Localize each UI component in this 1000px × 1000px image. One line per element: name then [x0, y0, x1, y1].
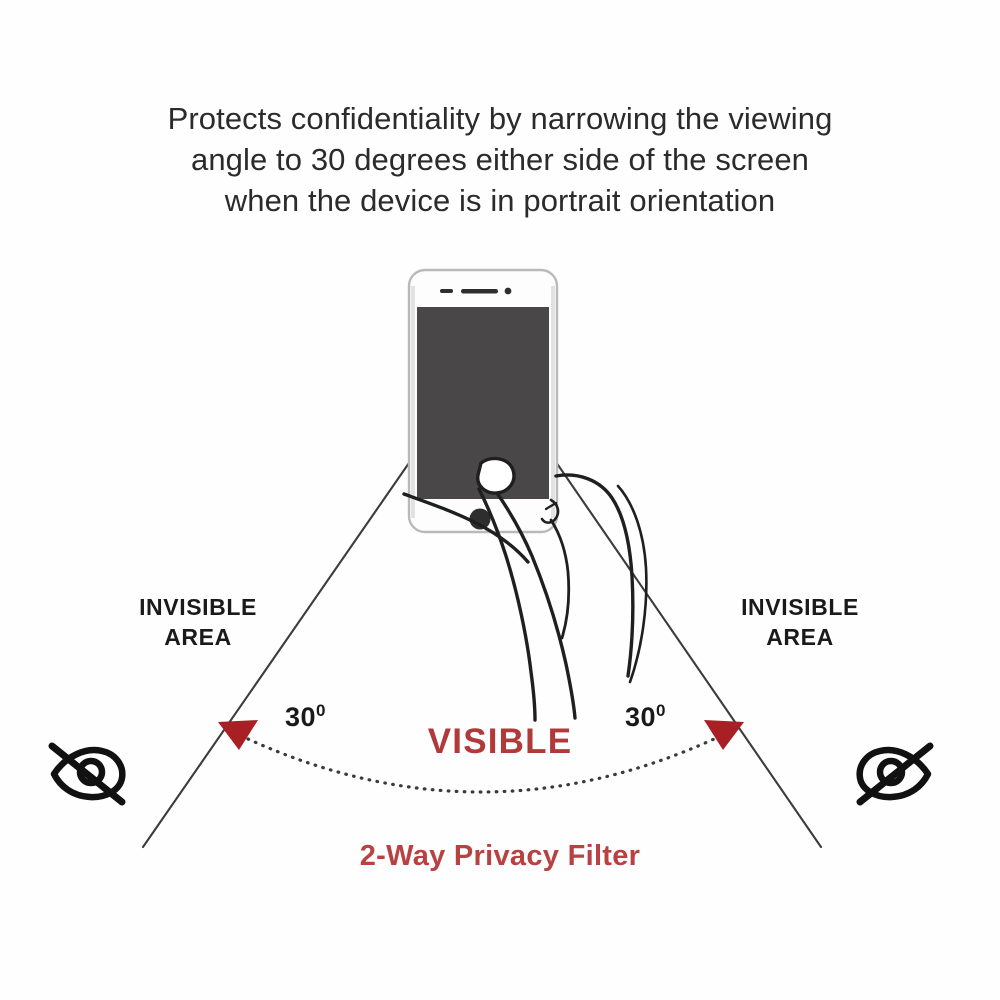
phone-edge-right [551, 286, 555, 518]
privacy-filter-diagram: Protects confidentiality by narrowing th… [0, 0, 1000, 1000]
invisible-area-label-right: INVISIBLE AREA [680, 592, 920, 652]
earpiece-speaker-icon [461, 289, 498, 294]
angle-left-degree-symbol: 0 [316, 701, 326, 720]
front-camera-icon [505, 288, 512, 295]
invisible-area-right-line1: INVISIBLE [680, 592, 920, 622]
angle-right-degree-symbol: 0 [656, 701, 666, 720]
smartphone-device [409, 270, 557, 532]
invisible-area-left-line1: INVISIBLE [78, 592, 318, 622]
headline: Protects confidentiality by narrowing th… [0, 98, 1000, 221]
headline-line-3: when the device is in portrait orientati… [0, 180, 1000, 221]
headline-line-2: angle to 30 degrees either side of the s… [0, 139, 1000, 180]
invisible-area-left-line2: AREA [78, 622, 318, 652]
headline-line-1: Protects confidentiality by narrowing th… [0, 98, 1000, 139]
privacy-filter-caption: 2-Way Privacy Filter [0, 840, 1000, 873]
index-fingertip [478, 459, 514, 494]
phone-edge-left [411, 286, 415, 518]
proximity-sensor-icon [440, 289, 453, 293]
invisible-area-right-line2: AREA [680, 622, 920, 652]
invisible-area-label-left: INVISIBLE AREA [78, 592, 318, 652]
visible-area-label: VISIBLE [0, 722, 1000, 762]
